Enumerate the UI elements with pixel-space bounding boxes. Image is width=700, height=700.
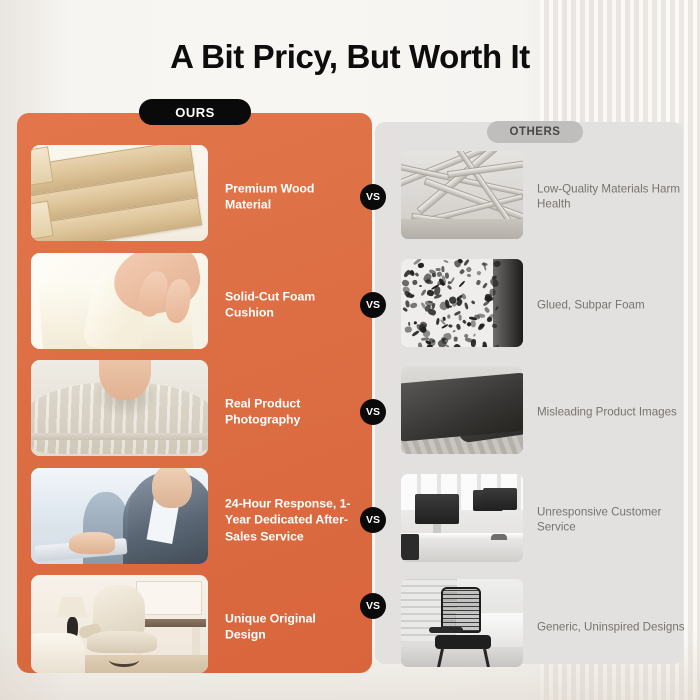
others-label: Misleading Product Images — [537, 404, 687, 419]
others-image-empty-office — [401, 474, 523, 562]
vs-badge: VS — [360, 399, 386, 425]
others-badge: OTHERS — [487, 121, 583, 143]
others-image-mesh-chair — [401, 579, 523, 667]
ours-badge: OURS — [139, 99, 251, 125]
others-label: Low-Quality Materials Harm Health — [537, 182, 687, 213]
others-label: Unresponsive Customer Service — [537, 505, 687, 536]
ours-image-real-cushion — [31, 360, 208, 456]
ours-label: Real Product Photography — [225, 396, 355, 429]
comparison-row: Premium Wood Material VS Low-Quality Mat… — [0, 145, 700, 249]
ours-label: Unique Original Design — [225, 611, 355, 644]
ours-label: 24-Hour Response, 1-Year Dedicated After… — [225, 495, 355, 544]
others-image-scrap-wood — [401, 151, 523, 239]
ours-image-home-office-chair — [31, 575, 208, 673]
others-label: Glued, Subpar Foam — [537, 297, 687, 312]
comparison-row: Real Product Photography VS Misleading P… — [0, 360, 700, 464]
comparison-row: Solid-Cut Foam Cushion VS Glued, Subpar … — [0, 253, 700, 357]
vs-badge: VS — [360, 184, 386, 210]
comparison-row: Unique Original Design VS Generic, Unins… — [0, 575, 700, 679]
others-image-glued-foam — [401, 259, 523, 347]
vs-badge: VS — [360, 507, 386, 533]
ours-image-foam-cushion — [31, 253, 208, 349]
comparison-infographic: A Bit Pricy, But Worth It OURS OTHERS Pr… — [0, 0, 700, 700]
ours-image-customer-service — [31, 468, 208, 564]
ours-label: Premium Wood Material — [225, 181, 355, 214]
page-title: A Bit Pricy, But Worth It — [0, 38, 700, 76]
vs-badge: VS — [360, 292, 386, 318]
ours-image-wood-beams — [31, 145, 208, 241]
others-image-dark-cushion — [401, 366, 523, 454]
comparison-row: 24-Hour Response, 1-Year Dedicated After… — [0, 468, 700, 572]
others-label: Generic, Uninspired Designs — [537, 619, 687, 634]
vs-badge: VS — [360, 593, 386, 619]
ours-label: Solid-Cut Foam Cushion — [225, 289, 355, 322]
